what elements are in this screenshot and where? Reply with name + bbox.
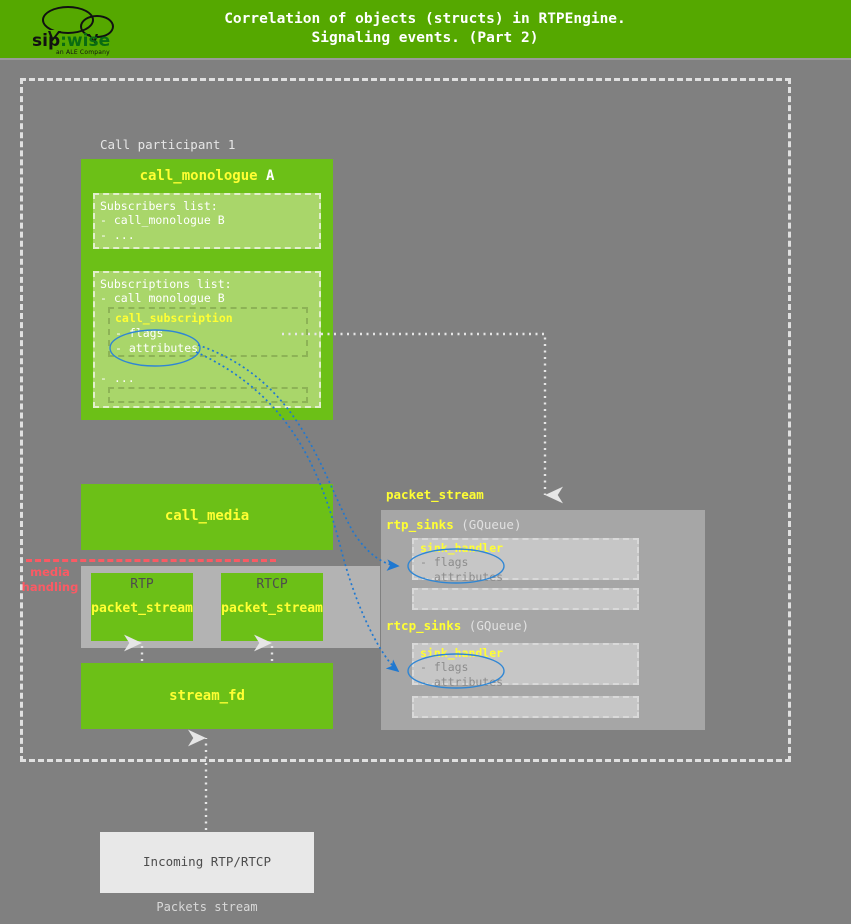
- rtcp-sinks-header: rtcp_sinks (GQueue): [386, 618, 529, 633]
- rtcp-sink-handler-fields: - flags - attributes: [420, 660, 503, 689]
- subscriptions-list-box: Subscriptions list: - call monologue B c…: [93, 271, 321, 408]
- rtp-sink-handler-fields: - flags - attributes: [420, 555, 503, 584]
- packet-stream-label: packet_stream: [386, 487, 484, 502]
- rtp-sink-handler-title: sink_handler: [420, 541, 503, 555]
- call-subscription-fields: - flags - attributes: [115, 326, 198, 355]
- sipwise-logo: sip:wise an ALE Company: [30, 3, 140, 57]
- media-handling-label: media handling: [18, 565, 82, 595]
- subscribers-list-box: Subscribers list: - call_monologue B - .…: [93, 193, 321, 249]
- rtcp-sinks-name: rtcp_sinks: [386, 618, 461, 633]
- rtcp-label: RTCP: [221, 577, 323, 592]
- rtp-sinks-name: rtp_sinks: [386, 517, 454, 532]
- incoming-rtp-rtcp-label: Incoming RTP/RTCP: [100, 854, 314, 869]
- call-subscription-box: call_subscription - flags - attributes: [108, 307, 308, 357]
- rtcp-sinks-type: (GQueue): [469, 618, 529, 633]
- rtp-packet-stream-box: RTP packet_stream: [91, 573, 193, 641]
- call-monologue-a-title-name: call_monologue: [140, 168, 258, 184]
- logo-wordmark: sip:wise: [32, 33, 140, 50]
- packets-stream-label: Packets stream: [100, 900, 314, 914]
- logo-tagline: an ALE Company: [56, 49, 110, 56]
- subscriptions-list-heading: Subscriptions list:: [100, 277, 232, 292]
- media-handling-divider: [26, 559, 276, 562]
- subscriptions-list-item-2: - ...: [100, 371, 135, 386]
- call-media-box: call_media: [81, 484, 333, 550]
- subscribers-list-heading: Subscribers list:: [100, 199, 218, 214]
- rtcp-packet-stream-box: RTCP packet_stream: [221, 573, 323, 641]
- call-monologue-a-box: call_monologue A Subscribers list: - cal…: [81, 159, 333, 420]
- call-monologue-a-title-suffix: A: [258, 168, 275, 184]
- call-subscription-box-placeholder: [108, 387, 308, 403]
- subscribers-list-items: - call_monologue B - ...: [100, 213, 225, 242]
- rtcp-sink-handler-title: sink_handler: [420, 646, 503, 660]
- rtcp-sink-handler-slot-empty: [412, 696, 639, 718]
- rtp-sinks-type: (GQueue): [461, 517, 521, 532]
- page-header: sip:wise an ALE Company Correlation of o…: [0, 0, 851, 60]
- stream-fd-title: stream_fd: [81, 688, 333, 704]
- packet-stream-box: rtp_sinks (GQueue) sink_handler - flags …: [381, 510, 705, 730]
- logo-word-wise: :wise: [60, 31, 110, 51]
- incoming-rtp-rtcp-box: Incoming RTP/RTCP: [100, 832, 314, 893]
- logo-word-sip: sip: [32, 31, 60, 51]
- subscriptions-list-item-1: - call monologue B: [100, 291, 225, 306]
- rtp-sink-handler-slot: sink_handler - flags - attributes: [412, 538, 639, 580]
- call-participant-label: Call participant 1: [100, 137, 235, 152]
- call-subscription-title: call_subscription: [115, 311, 233, 325]
- rtp-packet-stream-title: packet_stream: [91, 601, 193, 616]
- rtp-sink-handler-slot-empty: [412, 588, 639, 610]
- rtp-sinks-header: rtp_sinks (GQueue): [386, 517, 521, 532]
- rtp-label: RTP: [91, 577, 193, 592]
- call-media-title: call_media: [81, 508, 333, 524]
- rtcp-packet-stream-title: packet_stream: [221, 601, 323, 616]
- diagram-page: sip:wise an ALE Company Correlation of o…: [0, 0, 851, 924]
- stream-fd-box: stream_fd: [81, 663, 333, 729]
- rtcp-sink-handler-slot: sink_handler - flags - attributes: [412, 643, 639, 685]
- page-title: Correlation of objects (structs) in RTPE…: [160, 10, 690, 48]
- call-monologue-a-title: call_monologue A: [81, 168, 333, 184]
